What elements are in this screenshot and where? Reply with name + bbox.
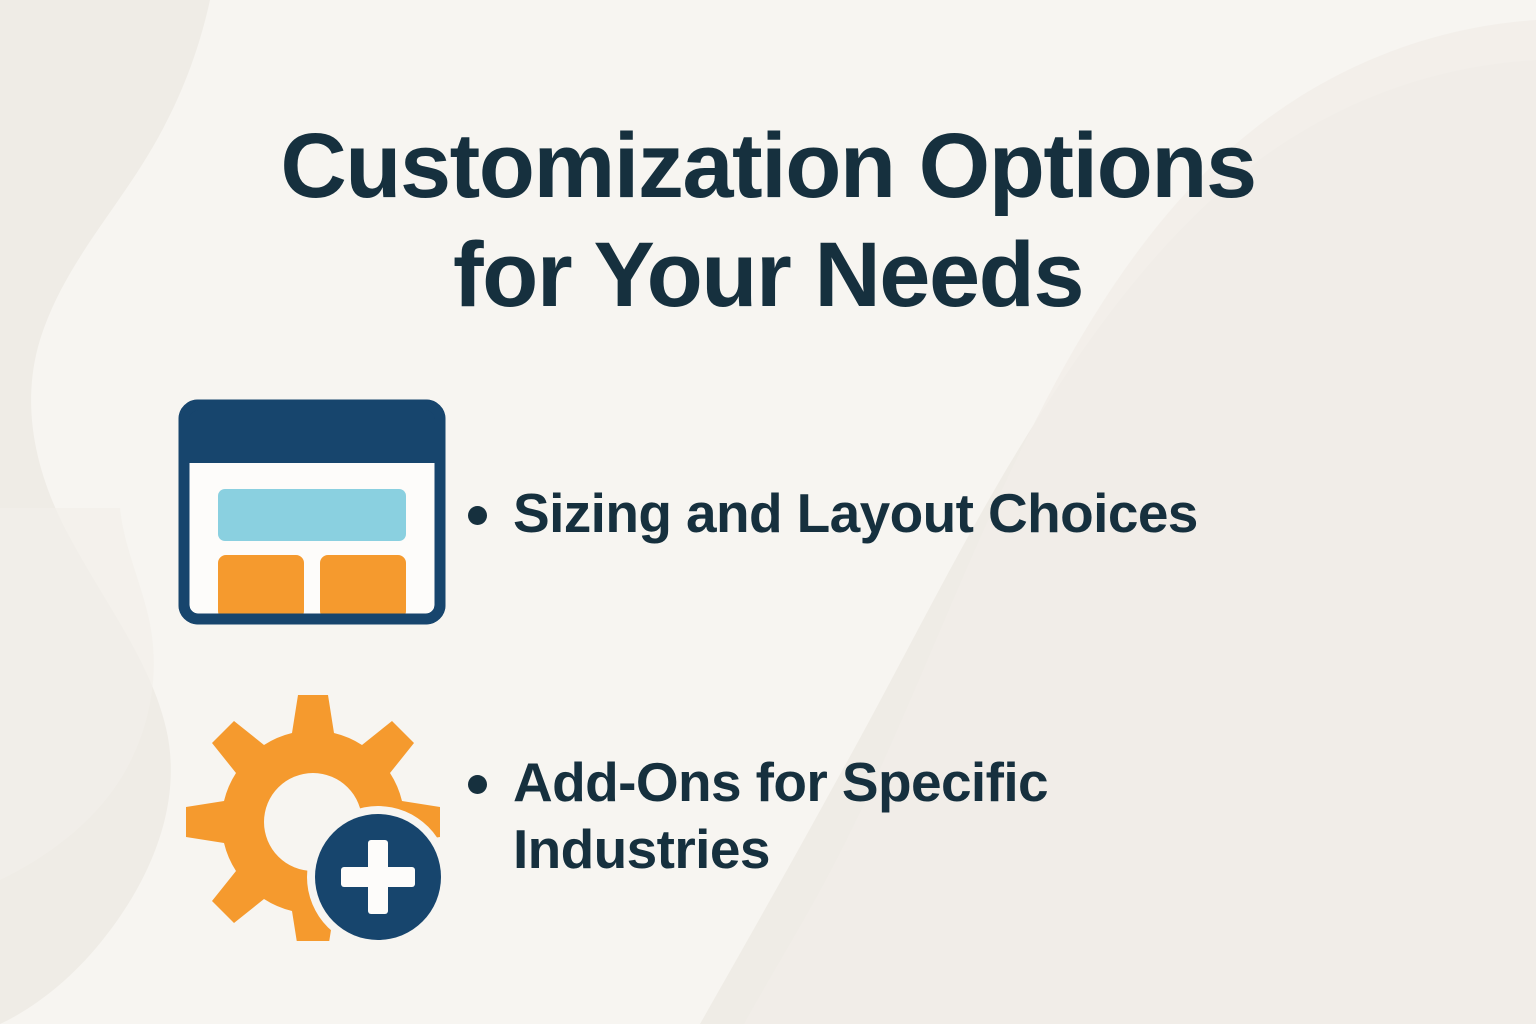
list-item: Sizing and Layout Choices — [176, 397, 1536, 627]
title-block: Customization Options for Your Needs — [0, 0, 1536, 329]
bullet-label: Sizing and Layout Choices — [513, 480, 1198, 547]
window-content-block-left — [218, 555, 304, 619]
window-title-bar — [184, 405, 440, 463]
slide-root: Customization Options for Your Needs — [0, 0, 1536, 1024]
window-content-block-right — [320, 555, 406, 619]
icon-cell — [176, 689, 468, 941]
bullet-row: Add-Ons for Specific Industries — [468, 747, 1153, 883]
bullet-label: Add-Ons for Specific Industries — [513, 749, 1153, 883]
gear-plus-icon — [176, 689, 448, 941]
window-banner-block — [218, 489, 406, 541]
page-title: Customization Options for Your Needs — [158, 112, 1378, 329]
bullet-row: Sizing and Layout Choices — [468, 478, 1198, 547]
bullet-marker-icon — [468, 775, 487, 794]
page-title-line-1: Customization Options — [158, 112, 1378, 221]
feature-list: Sizing and Layout Choices — [0, 397, 1536, 941]
bullet-marker-icon — [468, 506, 487, 525]
window-layout-icon — [176, 397, 448, 627]
page-title-line-2: for Your Needs — [158, 221, 1378, 330]
list-item: Add-Ons for Specific Industries — [176, 689, 1536, 941]
icon-cell — [176, 397, 468, 627]
